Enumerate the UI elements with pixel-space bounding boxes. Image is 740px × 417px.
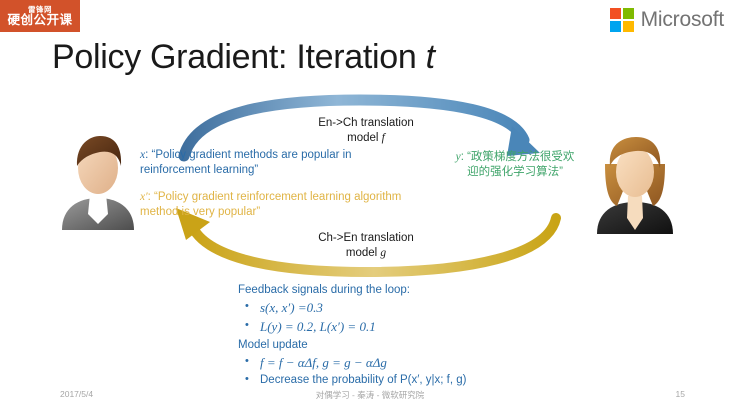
slide-title-variable: t <box>426 38 435 76</box>
update-item-0: f = f − αΔf, g = g − αΔg <box>260 355 387 370</box>
ms-square-red <box>610 8 621 19</box>
bottom-arrow-model-label: model <box>346 247 381 259</box>
lefeng-logo-badge: 雷锋网 硬创公开课 <box>0 0 80 32</box>
feedback-list: s(x, x′) =0.3 L(y) = 0.2, L(x′) = 0.1 <box>238 299 568 337</box>
feedback-item-0: s(x, x′) =0.3 <box>260 300 323 315</box>
update-item-1: Decrease the probability of P(x′, y|x; f… <box>260 374 466 386</box>
microsoft-wordmark: Microsoft <box>641 8 724 32</box>
slide-footer: 2017/5/4 对偶学习 - 秦涛 - 微软研究院 15 <box>0 389 740 403</box>
bottom-arrow-caption-line2: model g <box>296 246 436 261</box>
y-quote: “政策梯度方法很受欢迎的强化学习算法” <box>467 151 574 178</box>
microsoft-logo: Microsoft <box>610 8 724 32</box>
lefeng-logo-bottom-text: 硬创公开课 <box>7 14 72 27</box>
list-item: Decrease the probability of P(x′, y|x; f… <box>238 372 568 389</box>
slide-title-text: Policy Gradient: Iteration <box>52 38 426 76</box>
right-agent-y-text: y: “政策梯度方法很受欢迎的强化学习算法” <box>452 150 578 179</box>
top-arrow-caption-line1: En->Ch translation <box>296 116 436 131</box>
footer-center-text: 对偶学习 - 秦涛 - 微软研究院 <box>0 389 740 401</box>
ms-square-blue <box>610 21 621 32</box>
list-item: f = f − αΔf, g = g − αΔg <box>238 354 568 373</box>
left-agent-xprime-text: x′: “Policy gradient reinforcement learn… <box>140 190 408 219</box>
microsoft-squares-icon <box>610 8 634 32</box>
top-arrow-caption: En->Ch translation model f <box>296 116 436 146</box>
bottom-arrow-caption: Ch->En translation model g <box>296 231 436 261</box>
ms-square-green <box>623 8 634 19</box>
feedback-block: Feedback signals during the loop: s(x, x… <box>238 282 568 389</box>
male-person-avatar-icon <box>60 132 136 230</box>
xprime-variable: x′ <box>140 191 148 203</box>
x-quote: “Policy gradient methods are popular in … <box>140 149 352 176</box>
slide-title: Policy Gradient: Iteration t <box>52 38 435 77</box>
feedback-item-1: L(y) = 0.2, L(x′) = 0.1 <box>260 319 376 334</box>
female-person-avatar-icon <box>595 134 675 234</box>
ms-square-yellow <box>623 21 634 32</box>
top-arrow-caption-line2: model f <box>296 131 436 146</box>
bottom-arrow-caption-line1: Ch->En translation <box>296 231 436 246</box>
top-arrow-model-label: model <box>347 132 382 144</box>
bottom-arrow-model-variable: g <box>380 247 386 259</box>
list-item: s(x, x′) =0.3 <box>238 299 568 318</box>
footer-page-number: 15 <box>676 389 685 399</box>
model-update-list: f = f − αΔf, g = g − αΔg Decrease the pr… <box>238 354 568 390</box>
list-item: L(y) = 0.2, L(x′) = 0.1 <box>238 318 568 337</box>
feedback-heading: Feedback signals during the loop: <box>238 282 568 299</box>
left-agent-x-text: x: “Policy gradient methods are popular … <box>140 148 370 177</box>
top-arrow-model-variable: f <box>382 132 385 144</box>
xprime-quote: “Policy gradient reinforcement learning … <box>140 191 401 218</box>
model-update-heading: Model update <box>238 337 568 354</box>
